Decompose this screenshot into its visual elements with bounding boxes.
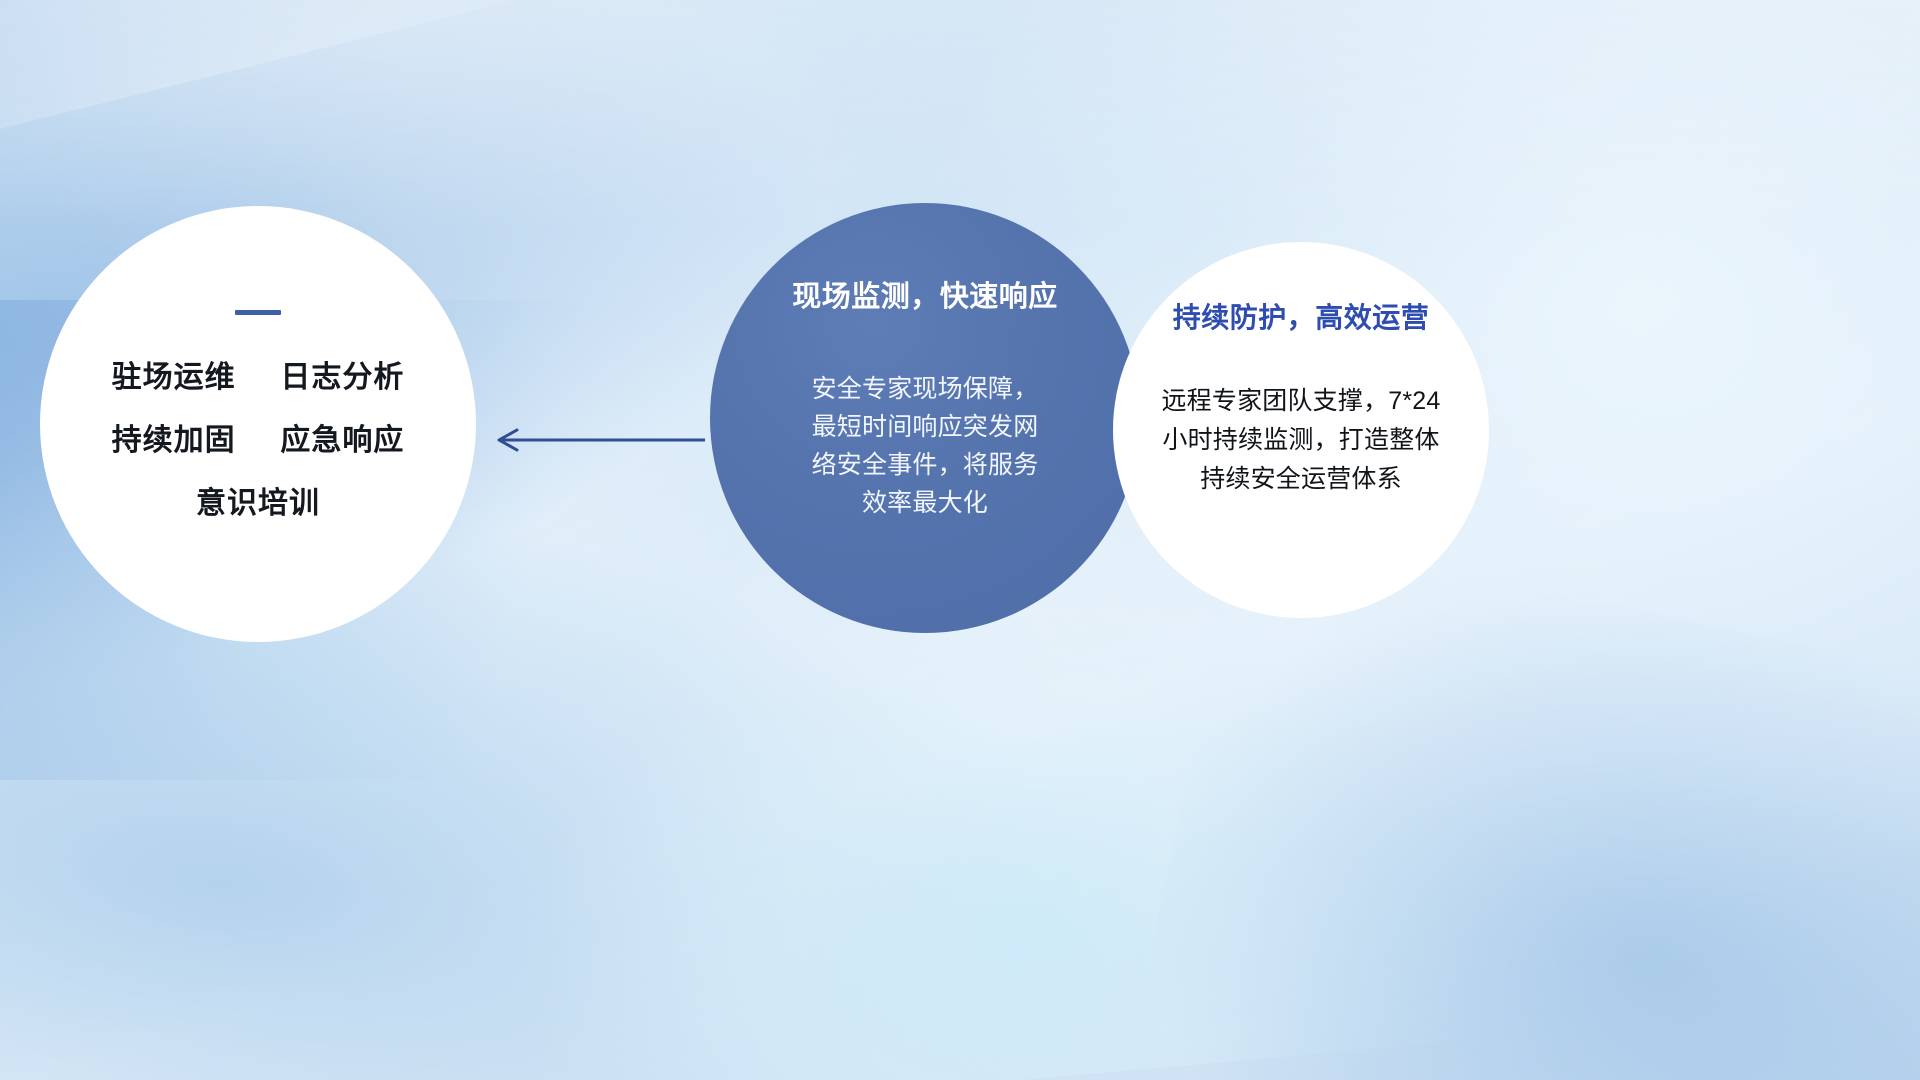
card-body: 安全专家现场保障， 最短时间响应突发网 络安全事件，将服务 效率最大化 bbox=[791, 370, 1059, 522]
body-line: 最短时间响应突发网 bbox=[791, 408, 1059, 446]
list-item: 持续加固 应急响应 bbox=[40, 426, 476, 456]
tag-label: 驻场运维 bbox=[112, 361, 236, 394]
slide-canvas: 驻场运维 日志分析 持续加固 应急响应 意识培训 现场监测，快速响应 安全专家现… bbox=[0, 0, 1920, 1080]
onsite-monitoring-circle[interactable]: 现场监测，快速响应 安全专家现场保障， 最短时间响应突发网 络安全事件，将服务 … bbox=[710, 203, 1140, 633]
body-line: 效率最大化 bbox=[791, 484, 1059, 522]
body-line: 小时持续监测，打造整体 bbox=[1136, 421, 1466, 460]
capability-tag-list: 驻场运维 日志分析 持续加固 应急响应 意识培训 bbox=[40, 363, 476, 519]
tag-label: 日志分析 bbox=[280, 361, 404, 394]
body-line: 远程专家团队支撑，7*24 bbox=[1136, 382, 1466, 421]
list-item: 意识培训 bbox=[40, 489, 476, 519]
body-line: 持续安全运营体系 bbox=[1136, 460, 1466, 499]
card-body: 远程专家团队支撑，7*24 小时持续监测，打造整体 持续安全运营体系 bbox=[1136, 382, 1466, 498]
card-title: 持续防护，高效运营 bbox=[1173, 304, 1430, 332]
tag-label: 意识培训 bbox=[196, 487, 320, 520]
capability-tags-circle[interactable]: 驻场运维 日志分析 持续加固 应急响应 意识培训 bbox=[40, 206, 476, 642]
body-line: 络安全事件，将服务 bbox=[791, 446, 1059, 484]
tag-label: 持续加固 bbox=[112, 424, 236, 457]
divider-dash-icon bbox=[235, 310, 281, 315]
tag-label: 应急响应 bbox=[280, 424, 404, 457]
list-item: 驻场运维 日志分析 bbox=[40, 363, 476, 393]
body-line: 安全专家现场保障， bbox=[791, 370, 1059, 408]
card-title: 现场监测，快速响应 bbox=[792, 283, 1058, 312]
continuous-protection-circle[interactable]: 持续防护，高效运营 远程专家团队支撑，7*24 小时持续监测，打造整体 持续安全… bbox=[1113, 242, 1489, 618]
